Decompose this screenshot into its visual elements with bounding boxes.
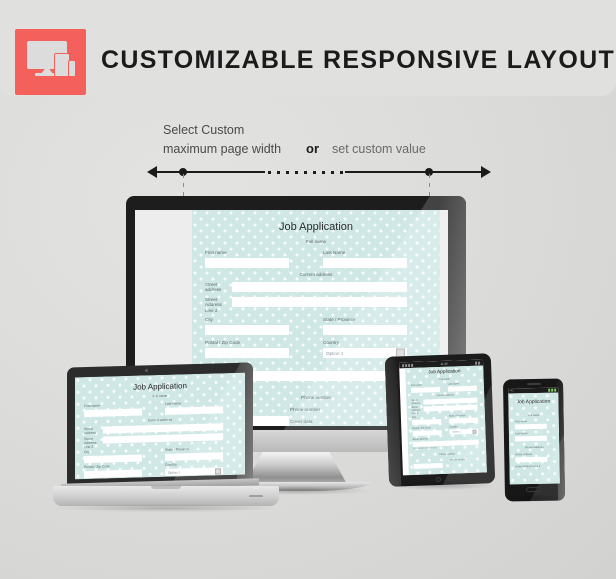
label-city: City: [205, 317, 213, 322]
label-street-address-2: Street Address Line 2: [205, 297, 229, 313]
annotation-line-1: Select Custom: [163, 123, 244, 137]
job-application-form-phone: Job Application Full name First name Las…: [508, 393, 560, 485]
label-street-address-2: Street Address Line 2: [412, 407, 422, 416]
carrier-label: 4G: [510, 389, 514, 392]
input-city[interactable]: [412, 419, 441, 425]
form-title: Job Application: [75, 380, 245, 394]
label-street-address-2: Street Address Line 2: [516, 465, 541, 468]
label-email: Email address: [413, 437, 428, 441]
input-state[interactable]: [165, 452, 223, 461]
input-phone-number[interactable]: [414, 463, 443, 469]
label-first-name: First name: [205, 250, 227, 255]
smartphone: 4G Job Application Full name First name …: [504, 379, 564, 501]
input-street-address[interactable]: [103, 423, 223, 433]
form-title: Job Application: [192, 221, 440, 233]
hint-email: example@example.com: [413, 447, 437, 450]
input-email[interactable]: [413, 440, 479, 447]
label-phone-number: Phone number: [290, 407, 320, 412]
input-last-name[interactable]: [323, 258, 407, 268]
chevron-down-icon[interactable]: [215, 468, 221, 474]
page-title: CUSTOMIZABLE RESPONSIVE LAYOUT: [101, 46, 615, 75]
section-address: Current address: [509, 446, 559, 450]
job-application-form-laptop: Job Application Full name First name Las…: [75, 373, 245, 480]
section-fullname: Full name: [75, 392, 245, 401]
label-street-address: Street address: [84, 427, 101, 435]
input-last-name[interactable]: [515, 436, 547, 442]
header: CUSTOMIZABLE RESPONSIVE LAYOUT: [0, 14, 616, 110]
input-last-name[interactable]: [448, 386, 477, 392]
input-zip[interactable]: [205, 348, 289, 358]
section-fullname: Full name: [406, 376, 484, 382]
ruler-segment-right: [345, 171, 483, 173]
laptop-base: [53, 486, 279, 506]
input-street-address-2[interactable]: [424, 405, 478, 412]
input-zip[interactable]: [84, 470, 142, 479]
select-country[interactable]: Option 1: [449, 429, 478, 435]
label-state: State / Province: [323, 317, 355, 322]
input-first-name[interactable]: [411, 387, 440, 393]
input-state[interactable]: [449, 418, 478, 424]
label-city: City: [412, 416, 416, 419]
label-first-name: First name: [84, 404, 100, 408]
laptop-shadow: [57, 504, 275, 512]
label-street-address: Street address: [411, 400, 421, 406]
label-last-name: Last Name: [323, 250, 345, 255]
label-last-name: Last Name: [515, 432, 528, 435]
input-street-address[interactable]: [515, 457, 547, 463]
form-title: Job Application: [514, 399, 552, 406]
input-street-address-2[interactable]: [232, 297, 407, 307]
job-application-form-tablet: Job Application Full name First name Las…: [405, 365, 487, 475]
label-last-name: Last Name: [165, 401, 181, 405]
label-country: Country: [165, 463, 177, 467]
input-first-name[interactable]: [515, 424, 547, 430]
label-last-name: Last Name: [448, 382, 460, 385]
annotation-or: or: [306, 141, 319, 156]
select-country[interactable]: Option 1: [165, 467, 223, 476]
input-street-address[interactable]: [232, 282, 407, 292]
input-city[interactable]: [205, 325, 289, 335]
label-state: State / Province: [449, 414, 466, 418]
input-zip[interactable]: [412, 430, 441, 436]
annotation-line-3: set custom value: [332, 142, 426, 156]
annotation-line-2: maximum page width: [163, 142, 281, 156]
label-phone-number: Phone number: [450, 458, 466, 462]
label-zip: Postal / Zip Code: [205, 340, 240, 345]
phone-shadow: [505, 494, 563, 502]
input-last-name[interactable]: [165, 406, 223, 415]
input-city[interactable]: [84, 455, 142, 464]
label-country: Country: [323, 340, 339, 345]
phone-home-button[interactable]: [526, 487, 542, 492]
clock-label: 11:45: [440, 362, 447, 366]
label-first-name: First name: [515, 420, 527, 423]
section-address: Current address: [192, 272, 440, 277]
label-street-address-2: Street Address Line 2: [84, 437, 101, 449]
signal-icon: [402, 363, 413, 366]
label-zip: Postal / Zip Code: [84, 464, 110, 469]
label-street-address: Street address: [205, 282, 229, 293]
input-state[interactable]: [323, 325, 407, 335]
label-country: Country: [449, 425, 457, 428]
signal-battery-icon: [548, 389, 556, 392]
label-city: City: [84, 450, 90, 454]
input-first-name[interactable]: [205, 258, 289, 268]
laptop-foot: [249, 495, 263, 497]
select-country-value: Option 1: [165, 470, 180, 474]
phone-speaker: [527, 383, 541, 385]
ruler-segment-left: [155, 171, 265, 173]
form-title: Job Application: [405, 368, 483, 376]
phone-glyph: [68, 60, 76, 77]
section-fullname: Full name: [192, 239, 440, 244]
tablet-screen: 11:45 Job Application Full name First na…: [399, 359, 487, 475]
laptop-trackpad-notch: [151, 486, 181, 489]
section-phone: Phone number: [408, 451, 486, 457]
label-cover-data: Cover data: [290, 419, 312, 424]
input-street-address[interactable]: [423, 398, 477, 405]
label-street-address: Street address: [515, 453, 532, 456]
adjustable-range-dashes: [268, 171, 346, 174]
tablet: 11:45 Job Application Full name First na…: [387, 355, 493, 485]
page-width-ruler: [0, 163, 616, 183]
battery-icon: [475, 361, 480, 364]
label-first-name: First name: [411, 384, 422, 387]
responsive-devices-icon: [15, 29, 86, 95]
input-street-address-2[interactable]: [103, 433, 223, 443]
select-country-value: Option 1: [323, 351, 343, 356]
ruler-arrow-right-icon: [481, 166, 491, 178]
section-fullname: Full name: [509, 414, 559, 418]
label-state: State / Province: [165, 447, 189, 452]
laptop-screen: Job Application Full name First name Las…: [75, 373, 245, 480]
select-country-value: Option 1: [449, 431, 460, 433]
phone-screen: 4G Job Application Full name First name …: [508, 388, 560, 485]
tablet-shadow: [389, 481, 493, 490]
input-first-name[interactable]: [84, 409, 142, 418]
chevron-down-icon[interactable]: [472, 429, 476, 433]
laptop: Job Application Full name First name Las…: [53, 365, 279, 510]
